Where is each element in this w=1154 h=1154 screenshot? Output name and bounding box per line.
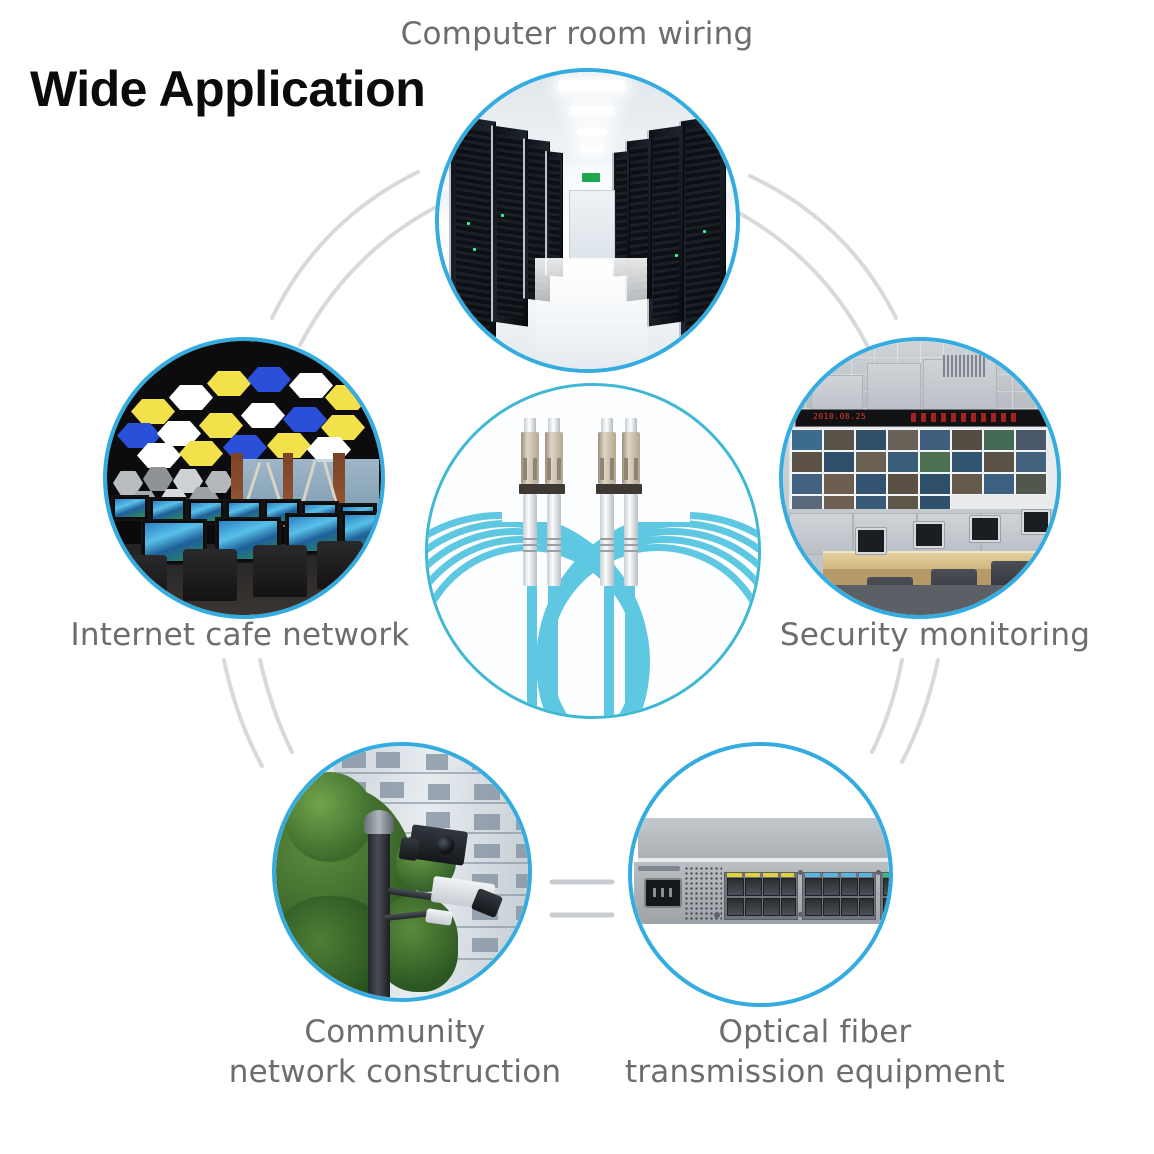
node-community-network-construction[interactable] — [272, 742, 532, 1002]
lc-connector-left — [516, 418, 572, 588]
page-title: Wide Application — [30, 64, 425, 114]
community-network-image — [276, 746, 528, 998]
node-computer-room-wiring[interactable] — [435, 68, 740, 373]
node-optical-fiber-transmission-equipment[interactable] — [628, 742, 893, 1007]
led-banner-text: 2010.08.25 — [813, 412, 866, 421]
label-community-network-construction: Community network construction — [215, 1013, 575, 1092]
lc-connector-right — [593, 418, 649, 588]
label-computer-room-wiring: Computer room wiring — [377, 15, 777, 55]
label-optical-fiber-transmission-equipment: Optical fiber transmission equipment — [600, 1013, 1030, 1092]
center-product-fiber-patch-cable[interactable] — [425, 383, 761, 719]
wide-application-infographic: Wide Application — [0, 0, 1154, 1154]
fiber-patch-cable-image — [428, 386, 758, 716]
optical-fiber-equipment-image — [632, 746, 889, 1003]
internet-cafe-image — [107, 341, 381, 615]
node-security-monitoring[interactable]: 2010.08.25 — [779, 337, 1061, 619]
label-internet-cafe-network: Internet cafe network — [60, 616, 420, 656]
node-internet-cafe-network[interactable] — [103, 337, 385, 619]
label-security-monitoring: Security monitoring — [775, 616, 1095, 656]
security-monitoring-image: 2010.08.25 — [783, 341, 1057, 615]
computer-room-image — [439, 72, 736, 369]
